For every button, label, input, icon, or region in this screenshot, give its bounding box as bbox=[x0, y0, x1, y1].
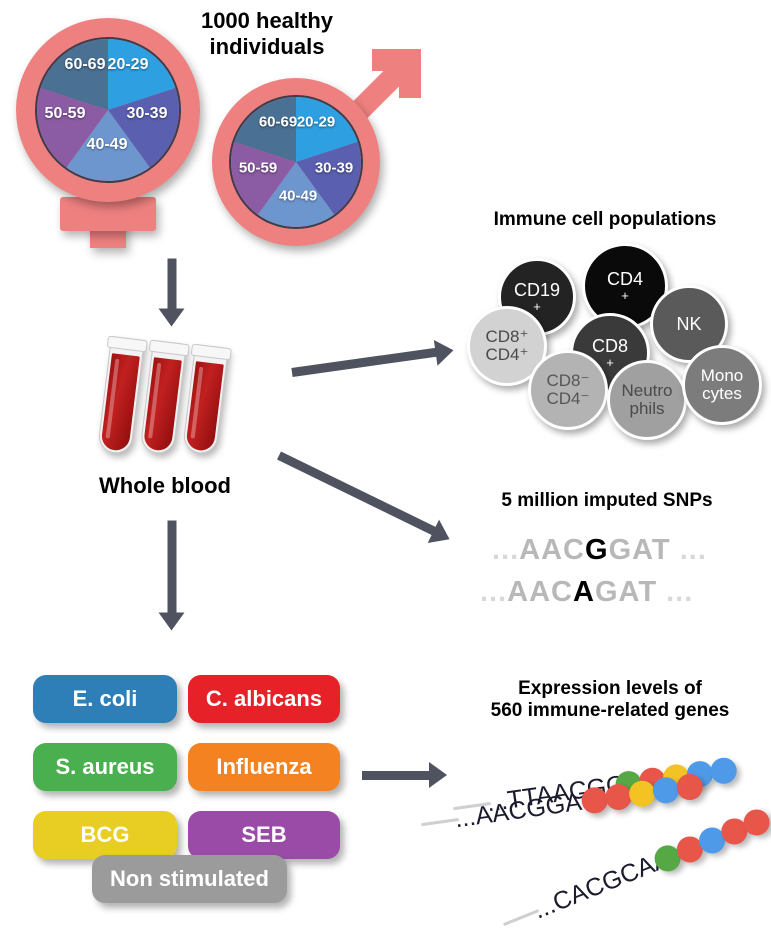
snp-ellipsis-left: ... bbox=[480, 576, 507, 608]
immune-cell-label: Neutrophils bbox=[621, 382, 672, 417]
arrow-head bbox=[159, 612, 185, 630]
snp-prefix-visible: AAC bbox=[519, 534, 585, 566]
arrow-stimuli-to-expression bbox=[362, 771, 447, 780]
arrow-shaft bbox=[362, 771, 431, 780]
whole-blood-label: Whole blood bbox=[75, 473, 255, 499]
stimulus-label: Influenza bbox=[216, 754, 311, 780]
snp-suffix: GAT bbox=[595, 576, 657, 608]
arrow-head bbox=[429, 762, 447, 788]
snp-suffix: GAT bbox=[609, 534, 671, 566]
immune-cell-label: CD8⁻CD4⁻ bbox=[547, 372, 590, 407]
male-age-label-60-69: 60-69 bbox=[259, 114, 297, 131]
immune-cell-label: Monocytes bbox=[701, 367, 744, 402]
whole-blood-group bbox=[105, 330, 255, 470]
rna-backbone-line bbox=[503, 909, 539, 926]
immune-cell-monocytes: Monocytes bbox=[682, 345, 762, 425]
immune-cell-label: NK bbox=[676, 315, 701, 334]
stimulus-non-stimulated[interactable]: Non stimulated bbox=[92, 855, 287, 903]
female-age-label-50-59: 50-59 bbox=[45, 105, 86, 123]
arrow-blood-to-snps bbox=[277, 451, 452, 542]
arrow-shaft bbox=[277, 451, 437, 535]
stimulus-label: Non stimulated bbox=[110, 866, 269, 892]
male-age-label-20-29: 20-29 bbox=[297, 114, 335, 131]
rna-sequence-text: ...CACGCAA bbox=[530, 844, 675, 925]
stimulus-seb[interactable]: SEB bbox=[188, 811, 340, 859]
arrow-head bbox=[434, 336, 455, 364]
stimulus-s-aureus[interactable]: S. aureus bbox=[33, 743, 177, 791]
snp-variant-allele: G bbox=[585, 534, 609, 566]
snp-ellipsis-right: ... bbox=[666, 576, 693, 608]
female-gender-symbol: 20-29 30-39 40-49 50-59 60-69 bbox=[8, 10, 218, 240]
arrow-blood-to-stimuli bbox=[168, 520, 177, 630]
snp-ellipsis-left: ... bbox=[492, 534, 519, 566]
stimulus-label: E. coli bbox=[73, 686, 138, 712]
female-age-label-40-49: 40-49 bbox=[87, 136, 128, 154]
snp-variant-allele: A bbox=[573, 576, 595, 608]
arrow-head bbox=[159, 308, 185, 326]
snp-prefix-visible: AAC bbox=[507, 576, 573, 608]
stimulus-label: C. albicans bbox=[206, 686, 322, 712]
immune-cell-populations-title: Immune cell populations bbox=[455, 209, 755, 231]
arrow-shaft bbox=[291, 347, 438, 376]
female-symbol-crossbar bbox=[60, 197, 156, 231]
expression-title-line1: Expression levels of bbox=[460, 678, 760, 700]
arrow-cohort-to-blood bbox=[168, 258, 177, 326]
stimulus-influenza[interactable]: Influenza bbox=[188, 743, 340, 791]
stimulus-e-coli[interactable]: E. coli bbox=[33, 675, 177, 723]
snps-title: 5 million imputed SNPs bbox=[462, 490, 752, 512]
immune-cell-neutrophils: Neutrophils bbox=[607, 360, 687, 440]
stimulus-bcg[interactable]: BCG bbox=[33, 811, 177, 859]
female-age-label-30-39: 30-39 bbox=[127, 105, 168, 123]
snp-sequence-row-2: ...AACAGAT ... bbox=[480, 576, 693, 609]
male-age-label-40-49: 40-49 bbox=[279, 188, 317, 205]
arrow-head bbox=[428, 519, 456, 550]
stimulus-label: SEB bbox=[241, 822, 286, 848]
female-age-label-20-29: 20-29 bbox=[108, 56, 149, 74]
male-gender-symbol: 20-29 30-39 40-49 50-59 60-69 bbox=[210, 70, 425, 260]
blood-tube-1 bbox=[97, 336, 145, 455]
arrow-shaft bbox=[168, 258, 177, 310]
male-age-label-50-59: 50-59 bbox=[239, 160, 277, 177]
immune-cell-cd8cd4: CD8⁻CD4⁻ bbox=[528, 350, 608, 430]
expression-title-line2: 560 immune-related genes bbox=[460, 700, 760, 722]
female-age-label-60-69: 60-69 bbox=[65, 56, 106, 74]
male-age-label-30-39: 30-39 bbox=[315, 160, 353, 177]
stimulus-label: BCG bbox=[81, 822, 130, 848]
stimulus-c-albicans[interactable]: C. albicans bbox=[188, 675, 340, 723]
stimulus-label: S. aureus bbox=[55, 754, 154, 780]
snp-sequence-row-1: ......AACAACGGAT ... bbox=[492, 534, 707, 567]
arrow-shaft bbox=[168, 520, 177, 614]
immune-cell-label: CD4+ bbox=[607, 270, 643, 302]
snp-ellipsis-right: ... bbox=[680, 534, 707, 566]
figure-canvas: 1000 healthy individuals 20-29 30-39 40-… bbox=[0, 0, 771, 922]
arrow-blood-to-immune bbox=[291, 345, 454, 377]
blood-tube-2 bbox=[139, 340, 186, 455]
blood-tube-3 bbox=[182, 344, 229, 455]
rna-bead bbox=[675, 772, 704, 801]
expression-title: Expression levels of 560 immune-related … bbox=[460, 678, 760, 723]
immune-cell-label: CD8⁺CD4⁺ bbox=[486, 328, 529, 363]
rna-backbone-line bbox=[421, 818, 459, 826]
